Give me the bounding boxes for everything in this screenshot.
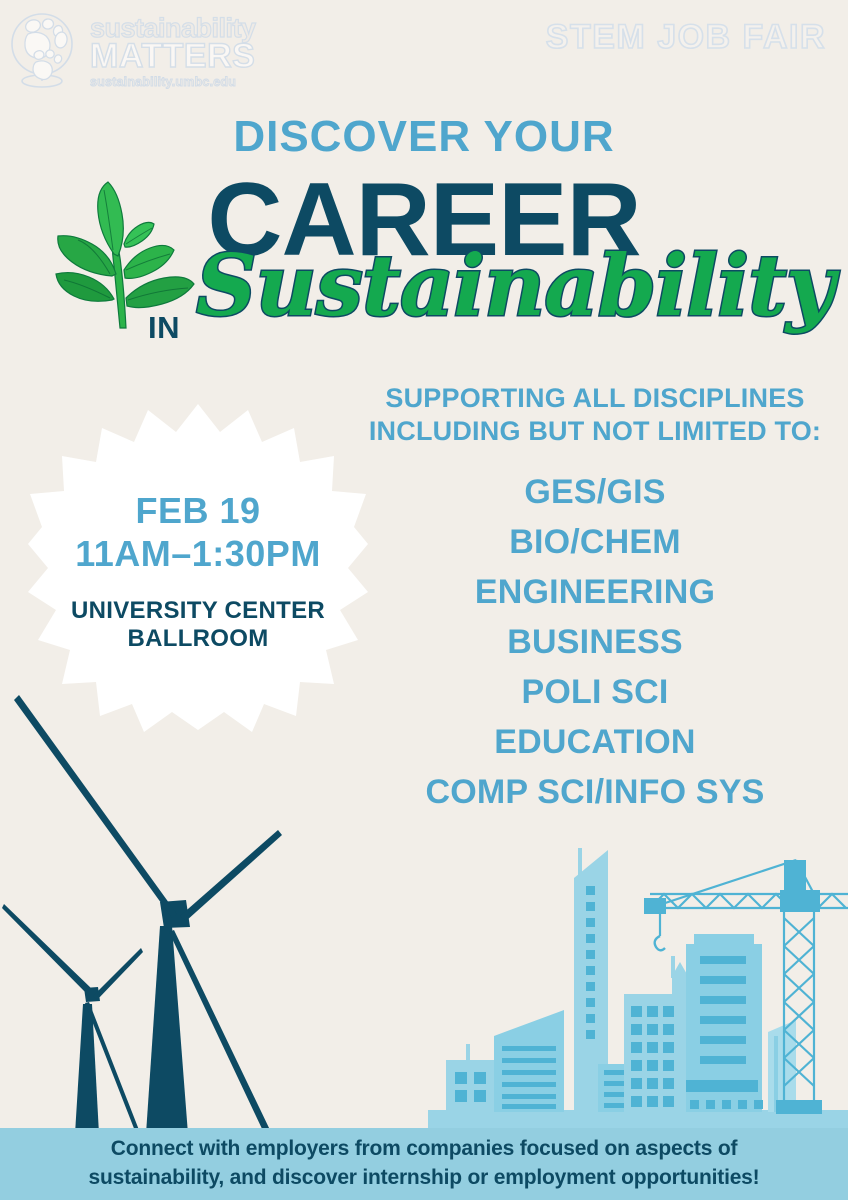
- disciplines-heading-line-1: SUPPORTING ALL DISCIPLINES: [360, 382, 830, 415]
- event-details-badge: FEB 19 11AM–1:30PM UNIVERSITY CENTER BAL…: [28, 402, 368, 732]
- logo-line-2: MATTERS: [90, 39, 256, 73]
- logo-url: sustainability.umbc.edu: [90, 76, 256, 89]
- headline-kicker: DISCOVER YOUR: [0, 112, 848, 162]
- globe-footprint-icon: [6, 10, 84, 90]
- banner-line-1: Connect with employers from companies fo…: [111, 1135, 738, 1164]
- disciplines-section: SUPPORTING ALL DISCIPLINES INCLUDING BUT…: [360, 382, 830, 818]
- event-time: 11AM–1:30PM: [75, 533, 321, 575]
- event-date: FEB 19: [135, 490, 260, 532]
- headline-connector: IN: [148, 310, 180, 346]
- discipline-item: ENGINEERING: [360, 568, 830, 618]
- sustainability-matters-logo: sustainability MATTERS sustainability.um…: [6, 4, 256, 96]
- discipline-item: GES/GIS: [360, 468, 830, 518]
- event-location-line-2: BALLROOM: [71, 625, 325, 653]
- discipline-item: POLI SCI: [360, 668, 830, 718]
- event-location-line-1: UNIVERSITY CENTER: [71, 597, 325, 625]
- city-skyline-crane-illustration: [428, 838, 848, 1128]
- wind-turbines-illustration: [0, 686, 334, 1134]
- disciplines-heading-line-2: INCLUDING BUT NOT LIMITED TO:: [360, 415, 830, 448]
- discipline-item: BUSINESS: [360, 618, 830, 668]
- disciplines-list: GES/GIS BIO/CHEM ENGINEERING BUSINESS PO…: [360, 468, 830, 818]
- bottom-banner: Connect with employers from companies fo…: [0, 1128, 848, 1200]
- discipline-item: BIO/CHEM: [360, 518, 830, 568]
- discipline-item: EDUCATION: [360, 718, 830, 768]
- poster-canvas: sustainability MATTERS sustainability.um…: [0, 0, 848, 1200]
- banner-line-2: sustainability, and discover internship …: [89, 1164, 760, 1193]
- green-sprout-leaves-illustration: [32, 178, 214, 354]
- headline-highlight: Sustainability: [196, 244, 834, 328]
- discipline-item: COMP SCI/INFO SYS: [360, 768, 830, 818]
- event-tag: STEM JOB FAIR: [546, 18, 826, 57]
